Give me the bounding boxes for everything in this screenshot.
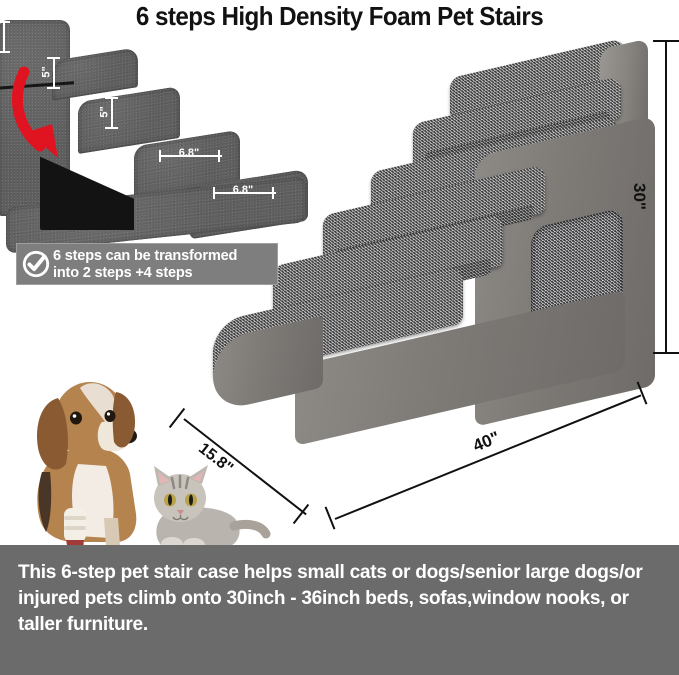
beagle-dog-with-bandaged-leg bbox=[18, 368, 158, 553]
pets-photo bbox=[18, 368, 288, 553]
dimension-height-label: 30" bbox=[629, 183, 649, 210]
inset-product-image: 5" 5" 5" 6.8" 6.8" bbox=[0, 6, 324, 246]
badge-text: 6 steps can be transformed into 2 steps … bbox=[53, 247, 237, 281]
transform-arrow bbox=[10, 66, 86, 166]
caption-band: This 6-step pet stair case helps small c… bbox=[0, 545, 679, 675]
dimension-step-depth-2: 6.8" bbox=[212, 186, 274, 200]
dimension-length-40in: 40" bbox=[325, 346, 665, 536]
caption-text: This 6-step pet stair case helps small c… bbox=[18, 559, 657, 637]
badge-line-1: 6 steps can be transformed bbox=[53, 247, 237, 264]
check-circle-icon bbox=[21, 249, 51, 279]
dimension-step-depth-1: 6.8" bbox=[158, 149, 220, 163]
transform-feature-badge: 6 steps can be transformed into 2 steps … bbox=[16, 243, 278, 285]
product-infographic: 6 steps High Density Foam Pet Stairs bbox=[0, 0, 679, 675]
dimension-height-30in: 30" bbox=[651, 28, 679, 368]
gray-tabby-kitten bbox=[138, 460, 268, 555]
badge-line-2: into 2 steps +4 steps bbox=[53, 264, 237, 281]
